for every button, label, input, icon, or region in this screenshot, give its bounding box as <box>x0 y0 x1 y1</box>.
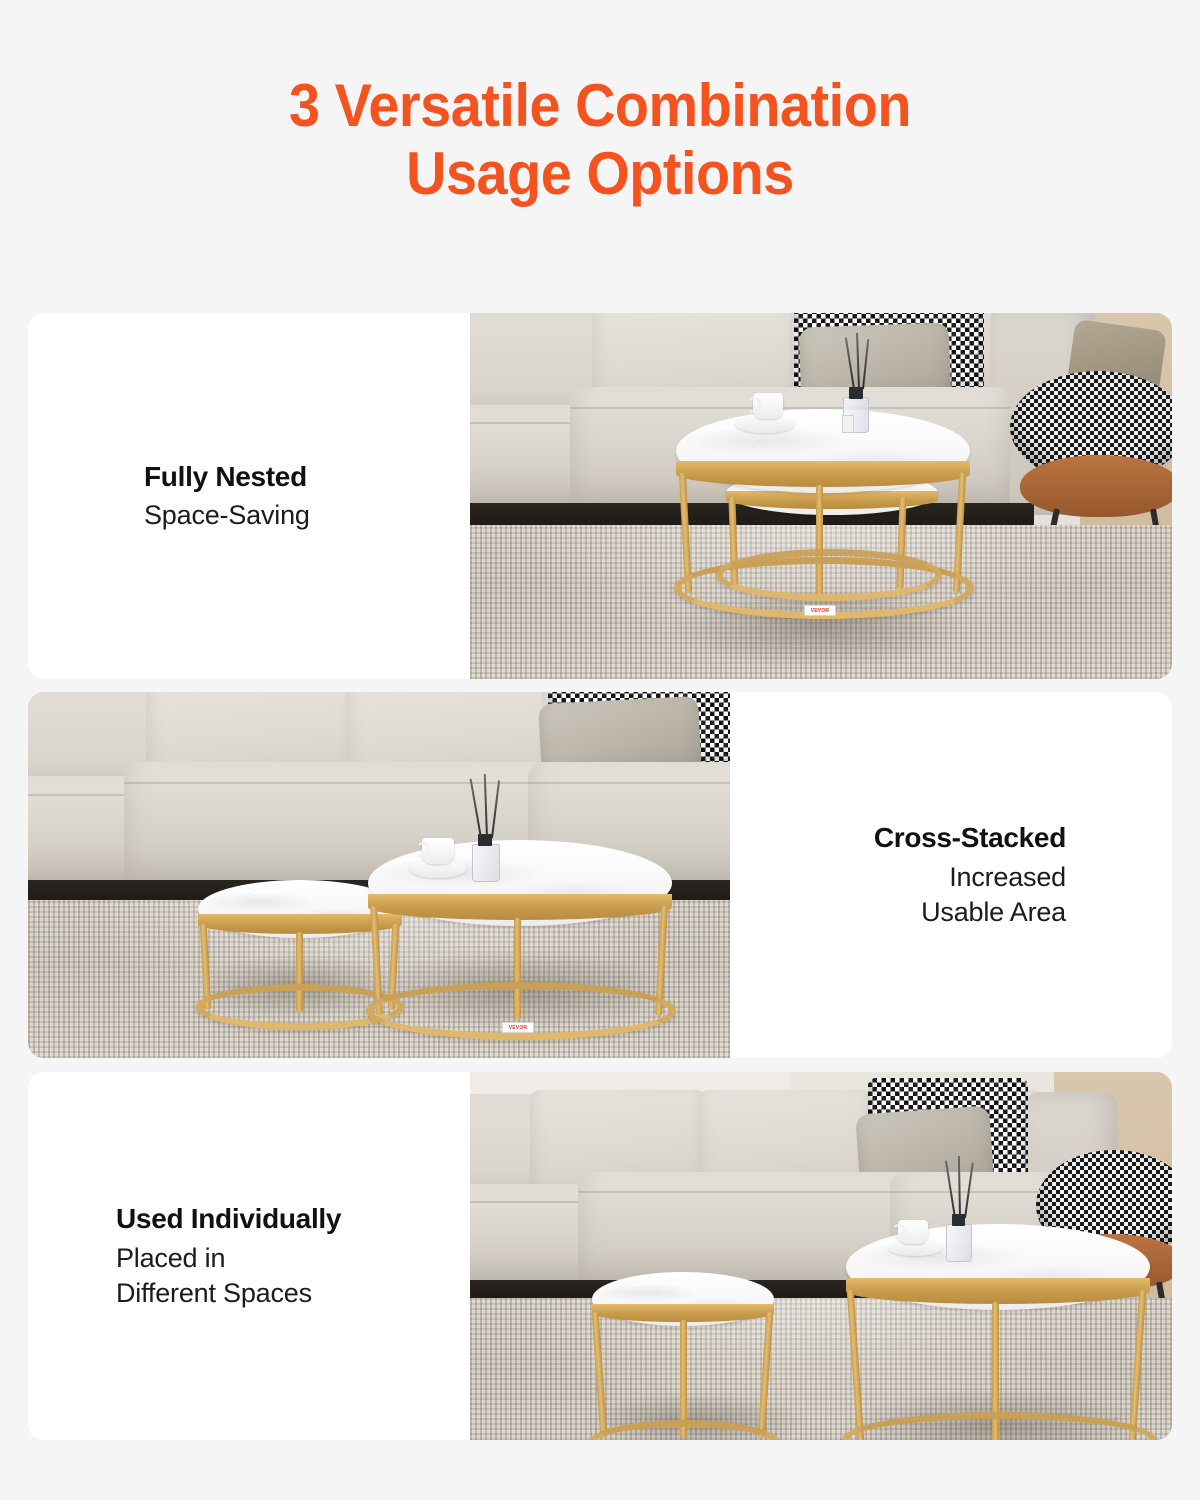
brand-label: VEVOR <box>502 1022 534 1033</box>
feature-card-used-individually: Used Individually Placed in Different Sp… <box>28 1072 1172 1440</box>
coffee-cup <box>898 1220 928 1244</box>
feature-subtext-line-1: Space-Saving <box>144 498 436 533</box>
feature-card-cross-stacked: Cross-Stacked Increased Usable Area <box>28 692 1172 1058</box>
large-table-trim <box>368 894 672 920</box>
diffuser-tag <box>842 415 854 433</box>
page-title-line-2: Usage Options <box>42 140 1158 208</box>
large-table-base-ring <box>842 1412 1156 1440</box>
page-title-line-1: 3 Versatile Combination <box>42 72 1158 140</box>
large-table-trim <box>846 1278 1150 1304</box>
feature-subtext-line-1: Increased <box>949 860 1066 895</box>
nested-tables-group: VEVOR <box>676 409 970 619</box>
feature-heading: Cross-Stacked <box>874 820 1066 856</box>
diffuser-bottle <box>946 1224 972 1262</box>
feature-text-block-cross-stacked: Cross-Stacked Increased Usable Area <box>730 692 1172 1058</box>
diffuser-bottle <box>472 844 500 882</box>
small-table-base-ring <box>716 549 942 601</box>
feature-heading: Used Individually <box>116 1201 436 1237</box>
feature-photo-fully-nested: VEVOR <box>470 313 1172 679</box>
accent-chair-base <box>1020 455 1172 517</box>
feature-photo-cross-stacked: VEVOR <box>28 692 730 1058</box>
small-table-base-ring <box>588 1420 780 1440</box>
large-table-leg-2 <box>1129 1290 1147 1440</box>
brand-label: VEVOR <box>804 605 836 616</box>
large-table: VEVOR <box>846 1224 1150 1440</box>
small-table-leg-2 <box>758 1312 774 1438</box>
feature-subtext-line-2: Different Spaces <box>116 1276 436 1311</box>
feature-text-block-fully-nested: Fully Nested Space-Saving <box>28 313 470 679</box>
large-table-trim <box>676 461 970 487</box>
diffuser-cap <box>849 387 863 399</box>
feature-card-fully-nested: Fully Nested Space-Saving <box>28 313 1172 679</box>
page-title: 3 Versatile Combination Usage Options <box>42 72 1158 209</box>
small-table-leg-1 <box>592 1312 608 1438</box>
feature-text-block-used-individually: Used Individually Placed in Different Sp… <box>28 1072 470 1440</box>
feature-subtext-line-1: Placed in <box>116 1241 436 1276</box>
coffee-cup <box>753 393 783 419</box>
coffee-cup <box>422 838 454 864</box>
feature-heading: Fully Nested <box>144 459 436 495</box>
large-table-leg-1 <box>847 1290 865 1440</box>
feature-photo-used-individually: VEVOR <box>470 1072 1172 1440</box>
small-table <box>592 1272 774 1440</box>
feature-subtext-line-2: Usable Area <box>921 895 1066 930</box>
